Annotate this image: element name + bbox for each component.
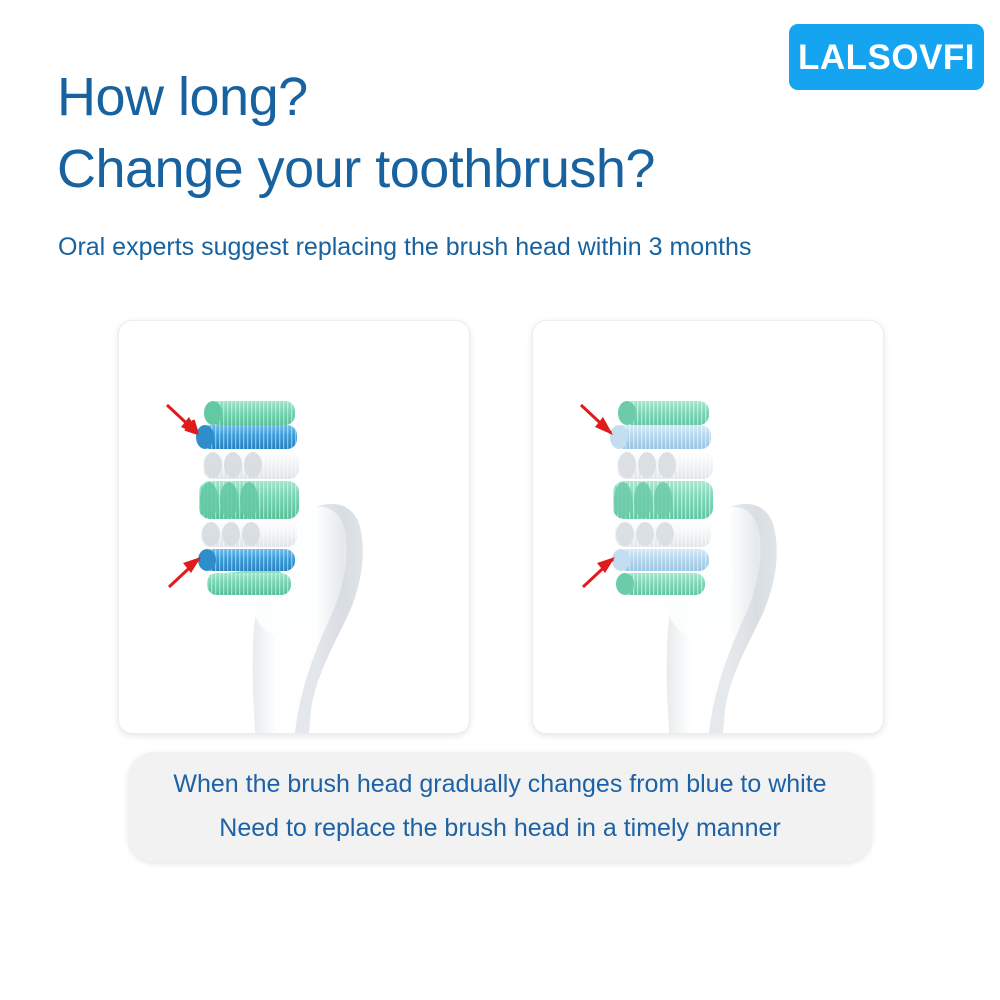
worn-brush-illustration — [533, 321, 883, 733]
bristle-row-faded-blue-top — [610, 425, 711, 449]
bristle-row-blue-top — [196, 425, 297, 449]
bristle-row-mint-bottom — [207, 567, 291, 595]
bristle-row-white-lower — [201, 521, 297, 547]
caption-box: When the brush head gradually changes fr… — [128, 752, 872, 862]
bristle-row-white-upper — [203, 451, 299, 479]
arrow-top-icon — [167, 405, 199, 435]
bristle-row-mint-bottom — [616, 573, 705, 595]
arrow-bottom-icon — [169, 557, 201, 587]
headline-line-2: Change your toothbrush? — [57, 134, 817, 206]
bristle-row-mint-top — [618, 401, 709, 425]
bristle-row-blue-bottom — [198, 549, 295, 571]
bristle-row-mint-top — [204, 401, 295, 425]
bristle-rows — [610, 401, 713, 595]
brand-wordmark: LALSOVFI — [798, 40, 975, 75]
bristle-row-white-lower — [615, 521, 711, 547]
bristle-row-faded-blue-bottom — [612, 549, 709, 571]
caption-line-1: When the brush head gradually changes fr… — [173, 763, 826, 807]
headline-line-1: How long? — [57, 62, 817, 134]
page-title: How long? Change your toothbrush? — [57, 62, 817, 206]
new-brush-illustration — [119, 321, 469, 733]
arrow-bottom-icon — [583, 557, 615, 587]
bristle-rows — [196, 401, 299, 595]
brand-logo-badge: LALSOVFI — [789, 24, 984, 90]
caption-line-2: Need to replace the brush head in a time… — [219, 807, 780, 851]
bristle-row-white-upper — [617, 451, 713, 479]
page-subtitle: Oral experts suggest replacing the brush… — [58, 232, 751, 262]
panel-worn-brush — [532, 320, 884, 734]
bristle-row-mint-middle — [199, 481, 299, 519]
panel-new-brush — [118, 320, 470, 734]
arrow-top-icon — [581, 405, 613, 435]
bristle-row-mint-middle — [613, 481, 713, 519]
